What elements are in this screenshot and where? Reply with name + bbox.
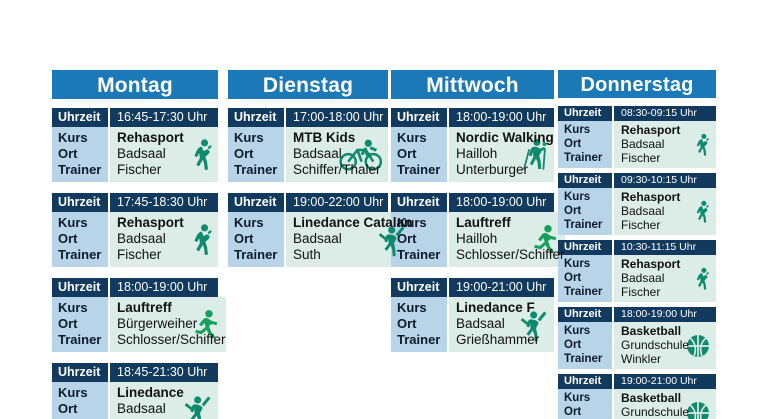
label-ort: Ort xyxy=(397,316,447,332)
value-ort: Hailloh xyxy=(456,146,554,162)
card-time-row: Uhrzeit 08:30-09:15 Uhr xyxy=(558,106,716,121)
time-label: Uhrzeit xyxy=(391,108,449,127)
time-value: 10:30-11:15 Uhr xyxy=(614,240,716,255)
card-list-montag: Uhrzeit 16:45-17:30 Uhr Kurs Ort Trainer… xyxy=(52,108,218,419)
card-time-row: Uhrzeit 17:45-18:30 Uhr xyxy=(52,193,218,212)
time-label: Uhrzeit xyxy=(558,374,614,389)
field-values: Basketball Grundschule Winkler xyxy=(614,322,716,369)
card-time-row: Uhrzeit 17:00-18:00 Uhr xyxy=(228,108,388,127)
label-kurs: Kurs xyxy=(58,300,108,316)
label-trainer: Trainer xyxy=(397,332,447,348)
value-kurs: Basketball xyxy=(621,324,716,338)
label-ort: Ort xyxy=(564,405,612,419)
time-label: Uhrzeit xyxy=(391,278,449,297)
value-kurs: Linedance xyxy=(117,385,218,401)
value-ort: Badsaal xyxy=(621,271,716,285)
value-ort: Grundschule xyxy=(621,405,716,419)
value-trainer: Unterburger xyxy=(456,162,554,178)
card-list-mittwoch: Uhrzeit 18:00-19:00 Uhr Kurs Ort Trainer… xyxy=(391,108,554,352)
course-card[interactable]: Uhrzeit 18:00-19:00 Uhr Kurs Ort Trainer… xyxy=(391,108,554,182)
field-values: Rehasport Badsaal Fischer xyxy=(614,188,716,235)
value-ort: Badsaal xyxy=(621,204,716,218)
time-value: 19:00-21:00 Uhr xyxy=(614,374,716,389)
time-value: 19:00-22:00 Uhr xyxy=(286,193,388,212)
time-label: Uhrzeit xyxy=(52,278,110,297)
card-time-row: Uhrzeit 16:45-17:30 Uhr xyxy=(52,108,218,127)
course-card[interactable]: Uhrzeit 18:00-19:00 Uhr Kurs Ort Trainer… xyxy=(558,307,716,369)
value-trainer: Winkler xyxy=(621,352,716,366)
label-ort: Ort xyxy=(58,401,108,417)
label-ort: Ort xyxy=(397,146,447,162)
label-ort: Ort xyxy=(234,146,284,162)
value-ort: Badsaal xyxy=(117,401,218,417)
field-labels: Kurs Ort Trainer xyxy=(391,297,449,352)
card-body: Kurs Ort Trainer Nordic Walking Hailloh … xyxy=(391,127,554,182)
day-header-donnerstag: Donnerstag xyxy=(558,70,716,100)
value-ort: Badsaal xyxy=(456,316,554,332)
time-value: 08:30-09:15 Uhr xyxy=(614,106,716,121)
label-ort: Ort xyxy=(564,271,612,285)
time-label: Uhrzeit xyxy=(558,240,614,255)
card-body: Kurs Ort Trainer Linedance Badsaal Traut… xyxy=(52,382,218,419)
value-trainer: Grießhammer xyxy=(456,332,554,348)
label-trainer: Trainer xyxy=(564,285,612,299)
time-value: 17:45-18:30 Uhr xyxy=(110,193,218,212)
label-trainer: Trainer xyxy=(234,162,284,178)
value-kurs: Nordic Walking xyxy=(456,130,554,146)
time-value: 18:00-19:00 Uhr xyxy=(449,193,554,212)
course-card[interactable]: Uhrzeit 19:00-21:00 Uhr Kurs Ort Trainer… xyxy=(558,374,716,419)
value-trainer: Schlosser/Schiffer xyxy=(456,247,565,263)
value-kurs: Linedance F xyxy=(456,300,554,316)
day-header-dienstag: Dienstag xyxy=(228,70,388,101)
day-column-dienstag: Dienstag Uhrzeit 17:00-18:00 Uhr Kurs Or… xyxy=(228,70,388,278)
field-values: Rehasport Badsaal Fischer xyxy=(614,255,716,302)
value-ort: Grundschule xyxy=(621,338,716,352)
label-ort: Ort xyxy=(564,338,612,352)
course-card[interactable]: Uhrzeit 10:30-11:15 Uhr Kurs Ort Trainer… xyxy=(558,240,716,302)
card-list-donnerstag: Uhrzeit 08:30-09:15 Uhr Kurs Ort Trainer… xyxy=(558,106,716,419)
card-body: Kurs Ort Trainer Basketball Grundschule … xyxy=(558,389,716,419)
value-trainer: Fischer xyxy=(621,285,716,299)
card-time-row: Uhrzeit 19:00-21:00 Uhr xyxy=(558,374,716,389)
label-ort: Ort xyxy=(58,231,108,247)
value-ort: Badsaal xyxy=(293,146,388,162)
field-labels: Kurs Ort Trainer xyxy=(391,127,449,182)
field-labels: Kurs Ort Trainer xyxy=(558,322,614,369)
label-trainer: Trainer xyxy=(564,218,612,232)
value-ort: Badsaal xyxy=(293,231,412,247)
time-label: Uhrzeit xyxy=(558,307,614,322)
course-card[interactable]: Uhrzeit 18:00-19:00 Uhr Kurs Ort Trainer… xyxy=(52,278,218,352)
value-ort: Badsaal xyxy=(621,137,716,151)
field-values: Lauftreff Bürgerweiher Schlosser/Schiffe… xyxy=(110,297,226,352)
card-time-row: Uhrzeit 18:00-19:00 Uhr xyxy=(52,278,218,297)
day-column-mittwoch: Mittwoch Uhrzeit 18:00-19:00 Uhr Kurs Or… xyxy=(391,70,554,363)
label-ort: Ort xyxy=(564,204,612,218)
label-kurs: Kurs xyxy=(564,324,612,338)
course-card[interactable]: Uhrzeit 19:00-22:00 Uhr Kurs Ort Trainer… xyxy=(228,193,388,267)
course-card[interactable]: Uhrzeit 16:45-17:30 Uhr Kurs Ort Trainer… xyxy=(52,108,218,182)
label-kurs: Kurs xyxy=(58,215,108,231)
course-card[interactable]: Uhrzeit 18:45-21:30 Uhr Kurs Ort Trainer… xyxy=(52,363,218,419)
value-kurs: Rehasport xyxy=(117,215,218,231)
card-body: Kurs Ort Trainer Rehasport Badsaal Fisch… xyxy=(52,212,218,267)
label-trainer: Trainer xyxy=(397,162,447,178)
weekly-course-schedule: Montag Uhrzeit 16:45-17:30 Uhr Kurs Ort … xyxy=(0,0,768,419)
field-values: Linedance Catalan Badsaal Suth xyxy=(286,212,412,267)
time-value: 19:00-21:00 Uhr xyxy=(449,278,554,297)
card-time-row: Uhrzeit 19:00-21:00 Uhr xyxy=(391,278,554,297)
label-kurs: Kurs xyxy=(397,130,447,146)
value-kurs: MTB Kids xyxy=(293,130,388,146)
card-time-row: Uhrzeit 19:00-22:00 Uhr xyxy=(228,193,388,212)
field-values: Rehasport Badsaal Fischer xyxy=(110,127,218,182)
time-label: Uhrzeit xyxy=(52,108,110,127)
field-values: Lauftreff Hailloh Schlosser/Schiffer xyxy=(449,212,565,267)
time-value: 17:00-18:00 Uhr xyxy=(286,108,388,127)
label-kurs: Kurs xyxy=(564,391,612,405)
card-time-row: Uhrzeit 10:30-11:15 Uhr xyxy=(558,240,716,255)
time-label: Uhrzeit xyxy=(228,193,286,212)
card-body: Kurs Ort Trainer Rehasport Badsaal Fisch… xyxy=(52,127,218,182)
card-time-row: Uhrzeit 18:00-19:00 Uhr xyxy=(558,307,716,322)
value-ort: Badsaal xyxy=(117,146,218,162)
field-labels: Kurs Ort Trainer xyxy=(52,297,110,352)
day-column-montag: Montag Uhrzeit 16:45-17:30 Uhr Kurs Ort … xyxy=(52,70,218,419)
time-label: Uhrzeit xyxy=(52,193,110,212)
course-card[interactable]: Uhrzeit 08:30-09:15 Uhr Kurs Ort Trainer… xyxy=(558,106,716,168)
value-ort: Hailloh xyxy=(456,231,565,247)
label-kurs: Kurs xyxy=(564,123,612,137)
field-labels: Kurs Ort Trainer xyxy=(558,188,614,235)
course-card[interactable]: Uhrzeit 19:00-21:00 Uhr Kurs Ort Trainer… xyxy=(391,278,554,352)
day-header-montag: Montag xyxy=(52,70,218,101)
value-ort: Badsaal xyxy=(117,231,218,247)
time-value: 09:30-10:15 Uhr xyxy=(614,173,716,188)
card-body: Kurs Ort Trainer Linedance Catalan Badsa… xyxy=(228,212,388,267)
label-kurs: Kurs xyxy=(58,385,108,401)
time-label: Uhrzeit xyxy=(52,363,110,382)
label-trainer: Trainer xyxy=(58,162,108,178)
time-label: Uhrzeit xyxy=(558,173,614,188)
field-labels: Kurs Ort Trainer xyxy=(52,212,110,267)
time-value: 18:45-21:30 Uhr xyxy=(110,363,218,382)
card-list-dienstag: Uhrzeit 17:00-18:00 Uhr Kurs Ort Trainer… xyxy=(228,108,388,267)
label-trainer: Trainer xyxy=(564,151,612,165)
card-time-row: Uhrzeit 18:00-19:00 Uhr xyxy=(391,193,554,212)
label-trainer: Trainer xyxy=(234,247,284,263)
field-labels: Kurs Ort Trainer xyxy=(558,389,614,419)
field-labels: Kurs Ort Trainer xyxy=(228,212,286,267)
card-body: Kurs Ort Trainer Lauftreff Bürgerweiher … xyxy=(52,297,218,352)
value-kurs: Rehasport xyxy=(621,123,716,137)
course-card[interactable]: Uhrzeit 18:00-19:00 Uhr Kurs Ort Trainer… xyxy=(391,193,554,267)
value-kurs: Rehasport xyxy=(117,130,218,146)
value-kurs: Rehasport xyxy=(621,257,716,271)
card-body: Kurs Ort Trainer Linedance F Badsaal Gri… xyxy=(391,297,554,352)
label-trainer: Trainer xyxy=(58,332,108,348)
label-ort: Ort xyxy=(58,146,108,162)
label-ort: Ort xyxy=(234,231,284,247)
field-values: Linedance F Badsaal Grießhammer xyxy=(449,297,554,352)
field-labels: Kurs Ort Trainer xyxy=(52,127,110,182)
label-kurs: Kurs xyxy=(397,300,447,316)
label-ort: Ort xyxy=(564,137,612,151)
label-trainer: Trainer xyxy=(58,247,108,263)
card-time-row: Uhrzeit 09:30-10:15 Uhr xyxy=(558,173,716,188)
field-labels: Kurs Ort Trainer xyxy=(558,121,614,168)
time-label: Uhrzeit xyxy=(391,193,449,212)
course-card[interactable]: Uhrzeit 17:45-18:30 Uhr Kurs Ort Trainer… xyxy=(52,193,218,267)
value-kurs: Linedance Catalan xyxy=(293,215,412,231)
label-kurs: Kurs xyxy=(234,130,284,146)
time-value: 18:00-19:00 Uhr xyxy=(110,278,218,297)
card-body: Kurs Ort Trainer MTB Kids Badsaal Schiff… xyxy=(228,127,388,182)
label-kurs: Kurs xyxy=(564,257,612,271)
label-kurs: Kurs xyxy=(234,215,284,231)
field-labels: Kurs Ort Trainer xyxy=(228,127,286,182)
field-labels: Kurs Ort Trainer xyxy=(558,255,614,302)
label-kurs: Kurs xyxy=(564,190,612,204)
field-labels: Kurs Ort Trainer xyxy=(52,382,110,419)
field-values: Rehasport Badsaal Fischer xyxy=(614,121,716,168)
card-body: Kurs Ort Trainer Basketball Grundschule … xyxy=(558,322,716,369)
card-time-row: Uhrzeit 18:00-19:00 Uhr xyxy=(391,108,554,127)
field-values: Basketball Grundschule Weber xyxy=(614,389,716,419)
value-ort: Bürgerweiher xyxy=(117,316,226,332)
card-body: Kurs Ort Trainer Rehasport Badsaal Fisch… xyxy=(558,255,716,302)
value-trainer: Fischer xyxy=(621,151,716,165)
time-value: 18:00-19:00 Uhr xyxy=(449,108,554,127)
value-kurs: Lauftreff xyxy=(456,215,565,231)
time-label: Uhrzeit xyxy=(228,108,286,127)
card-body: Kurs Ort Trainer Rehasport Badsaal Fisch… xyxy=(558,121,716,168)
value-trainer: Fischer xyxy=(621,218,716,232)
card-time-row: Uhrzeit 18:45-21:30 Uhr xyxy=(52,363,218,382)
day-header-mittwoch: Mittwoch xyxy=(391,70,554,101)
day-column-donnerstag: Donnerstag Uhrzeit 08:30-09:15 Uhr Kurs … xyxy=(558,70,716,419)
course-card[interactable]: Uhrzeit 09:30-10:15 Uhr Kurs Ort Trainer… xyxy=(558,173,716,235)
value-kurs: Rehasport xyxy=(621,190,716,204)
value-trainer: Fischer xyxy=(117,247,218,263)
value-trainer: Schlosser/Schiffer xyxy=(117,332,226,348)
course-card[interactable]: Uhrzeit 17:00-18:00 Uhr Kurs Ort Trainer… xyxy=(228,108,388,182)
time-value: 16:45-17:30 Uhr xyxy=(110,108,218,127)
label-kurs: Kurs xyxy=(58,130,108,146)
value-kurs: Lauftreff xyxy=(117,300,226,316)
time-label: Uhrzeit xyxy=(558,106,614,121)
value-trainer: Fischer xyxy=(117,162,218,178)
field-values: MTB Kids Badsaal Schiffer/Thaler xyxy=(286,127,388,182)
value-trainer: Schiffer/Thaler xyxy=(293,162,388,178)
label-trainer: Trainer xyxy=(564,352,612,366)
card-body: Kurs Ort Trainer Lauftreff Hailloh Schlo… xyxy=(391,212,554,267)
value-trainer: Suth xyxy=(293,247,412,263)
field-values: Rehasport Badsaal Fischer xyxy=(110,212,218,267)
time-value: 18:00-19:00 Uhr xyxy=(614,307,716,322)
value-kurs: Basketball xyxy=(621,391,716,405)
card-body: Kurs Ort Trainer Rehasport Badsaal Fisch… xyxy=(558,188,716,235)
field-values: Nordic Walking Hailloh Unterburger xyxy=(449,127,554,182)
label-ort: Ort xyxy=(58,316,108,332)
field-values: Linedance Badsaal Trautmann xyxy=(110,382,218,419)
